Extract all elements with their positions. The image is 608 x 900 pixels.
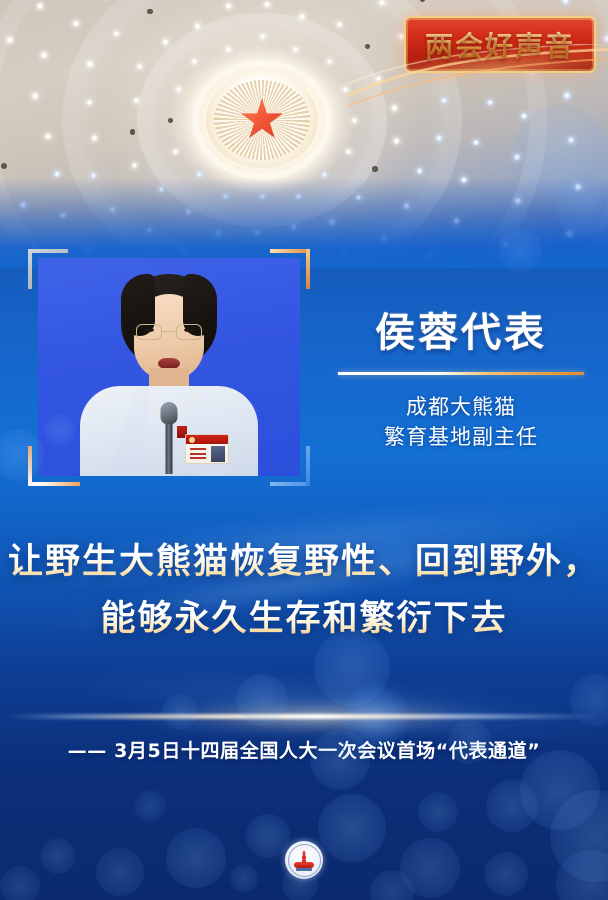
ceiling-light-dot [299,14,304,19]
ceiling-light-dot [37,3,43,9]
bokeh-circle [134,790,166,822]
ceiling-light-dot [32,93,38,99]
ceiling-light-dot [73,21,79,27]
ceiling-light-dot [521,113,527,119]
ceiling-light-dot [392,105,397,110]
speaker-info: 侯蓉代表 成都大熊猫 繁育基地副主任 [330,300,592,453]
ceiling-light-dot [226,47,231,52]
quote-line-1: 让野生大熊猫恢复野性、回到野外， [0,534,608,591]
ceiling-light-dot [87,61,93,67]
speaker-title-line-2: 繁育基地副主任 [330,423,592,453]
ceiling-light-dot [87,100,93,106]
ceiling-light-dot [163,39,168,44]
ceiling-light-dot [147,9,153,15]
ceiling-light-dot [195,23,200,28]
ceiling-light-dot [327,59,332,64]
ceiling-light-dot [514,154,520,160]
glasses-icon [136,324,202,341]
portrait-frame [38,258,300,476]
ceiling-fade-overlay [0,178,608,268]
ceiling-medallion [206,72,318,168]
ceiling-light-dot [564,92,570,98]
bokeh-circle [418,792,458,832]
ceiling-light-dot [343,87,348,92]
bokeh-circle [236,674,288,726]
ceiling-light-dot [7,37,13,43]
ceiling-light-dot [92,135,98,141]
bokeh-circle [166,828,226,888]
bokeh-circle [486,780,538,832]
quote-line-2: 能够永久生存和繁衍下去 [0,591,608,648]
ceiling-light-dot [41,52,47,58]
red-star-icon [240,98,284,142]
bokeh-circle [246,814,290,858]
bokeh-circle [162,694,198,730]
ceiling-light-dot [197,172,202,177]
ceiling-light-dot [420,0,426,2]
ceiling-light-dot [173,149,178,154]
bokeh-circle [370,870,414,900]
ceiling-light-dot [168,118,173,123]
ceiling-light-dot [352,118,357,123]
ceiling-light-dot [379,0,385,5]
bokeh-circle [484,852,528,896]
name-divider [338,372,584,375]
ceiling-light-dot [322,172,327,177]
ceiling-light-dot [417,168,423,174]
ceiling-light-dot [134,98,139,103]
bokeh-circle [550,790,608,882]
ceiling-light-dot [372,166,377,171]
ceiling-light-dot [487,100,493,106]
ceiling-light-dot [394,138,399,143]
bokeh-circle [556,850,608,900]
bokeh-circle [400,838,460,898]
ceiling-light-dot [114,31,120,37]
ceiling-light-dot [346,149,351,154]
ceiling-light-dot [192,59,197,64]
ceiling-light-dot [568,137,574,143]
bokeh-circle [570,674,608,726]
ceiling-light-dot [226,3,231,8]
ceiling-light-dot [176,87,181,92]
xinhua-emblem-icon [285,841,323,879]
quote-block: 让野生大熊猫恢复野性、回到野外， 能够永久生存和繁衍下去 [0,534,608,647]
portrait-photo [38,258,300,476]
attribution-text: —— 3月5日十四届全国人大一次会议首场“代表通道” [0,736,608,763]
ceiling-light-dot [130,129,135,134]
bokeh-circle [0,866,40,900]
ceiling-light-dot [293,47,298,52]
ceiling-light-dot [337,22,342,27]
ceiling-light-dot [54,171,60,177]
ceiling-light-dot [137,64,142,69]
bokeh-circle [40,838,76,874]
ceiling-light-dot [365,44,370,49]
microphone-icon [161,402,178,424]
ceiling-light-dot [260,34,265,39]
bokeh-circle [230,864,258,892]
ceiling-light-dot [132,163,137,168]
ceiling-light-dot [604,35,608,41]
banner-title: 两会好声音 [425,25,575,65]
ceiling-light-dot [441,98,447,104]
bokeh-circle [96,848,144,896]
ceiling-light-dot [1,163,7,169]
speaker-title-line-1: 成都大熊猫 [330,393,592,423]
delegate-badge [185,434,229,464]
speaker-title: 成都大熊猫 繁育基地副主任 [330,393,592,453]
speaker-name: 侯蓉代表 [330,300,592,358]
ceiling-light-dot [473,140,479,146]
ceiling-light-dot [45,134,51,140]
poster-canvas: 两会好声音 [0,0,608,900]
ceiling-light-dot [264,2,269,7]
banner-plaque: 两会好声音 [404,16,596,73]
bokeh-circle [318,794,386,862]
ceiling-light-dot [376,76,381,81]
ceiling-light-dot [562,0,568,4]
ceiling-light-dot [436,135,442,141]
